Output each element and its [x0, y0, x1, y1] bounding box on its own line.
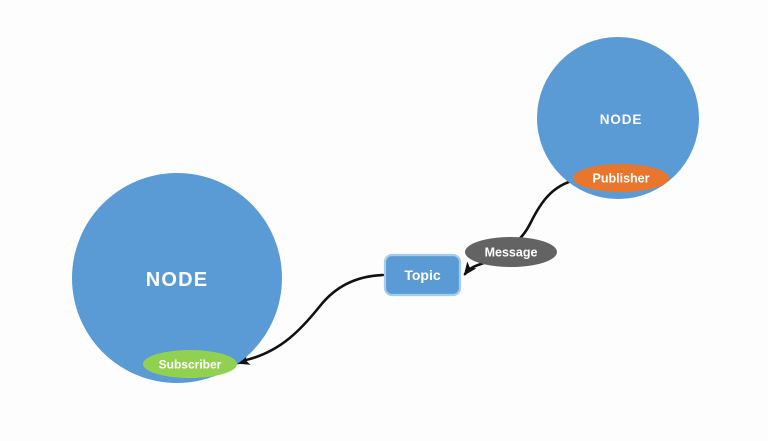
- node-left-label: NODE: [146, 269, 209, 291]
- diagram-svg: NODE Subscriber NODE Publisher Message T…: [0, 0, 768, 441]
- subscriber-label: Subscriber: [159, 358, 222, 372]
- message-label: Message: [485, 246, 538, 260]
- diagram-canvas: NODE Subscriber NODE Publisher Message T…: [0, 0, 768, 441]
- topic-label: Topic: [404, 267, 441, 283]
- publisher-label: Publisher: [593, 172, 650, 186]
- node-right-label: NODE: [600, 112, 643, 127]
